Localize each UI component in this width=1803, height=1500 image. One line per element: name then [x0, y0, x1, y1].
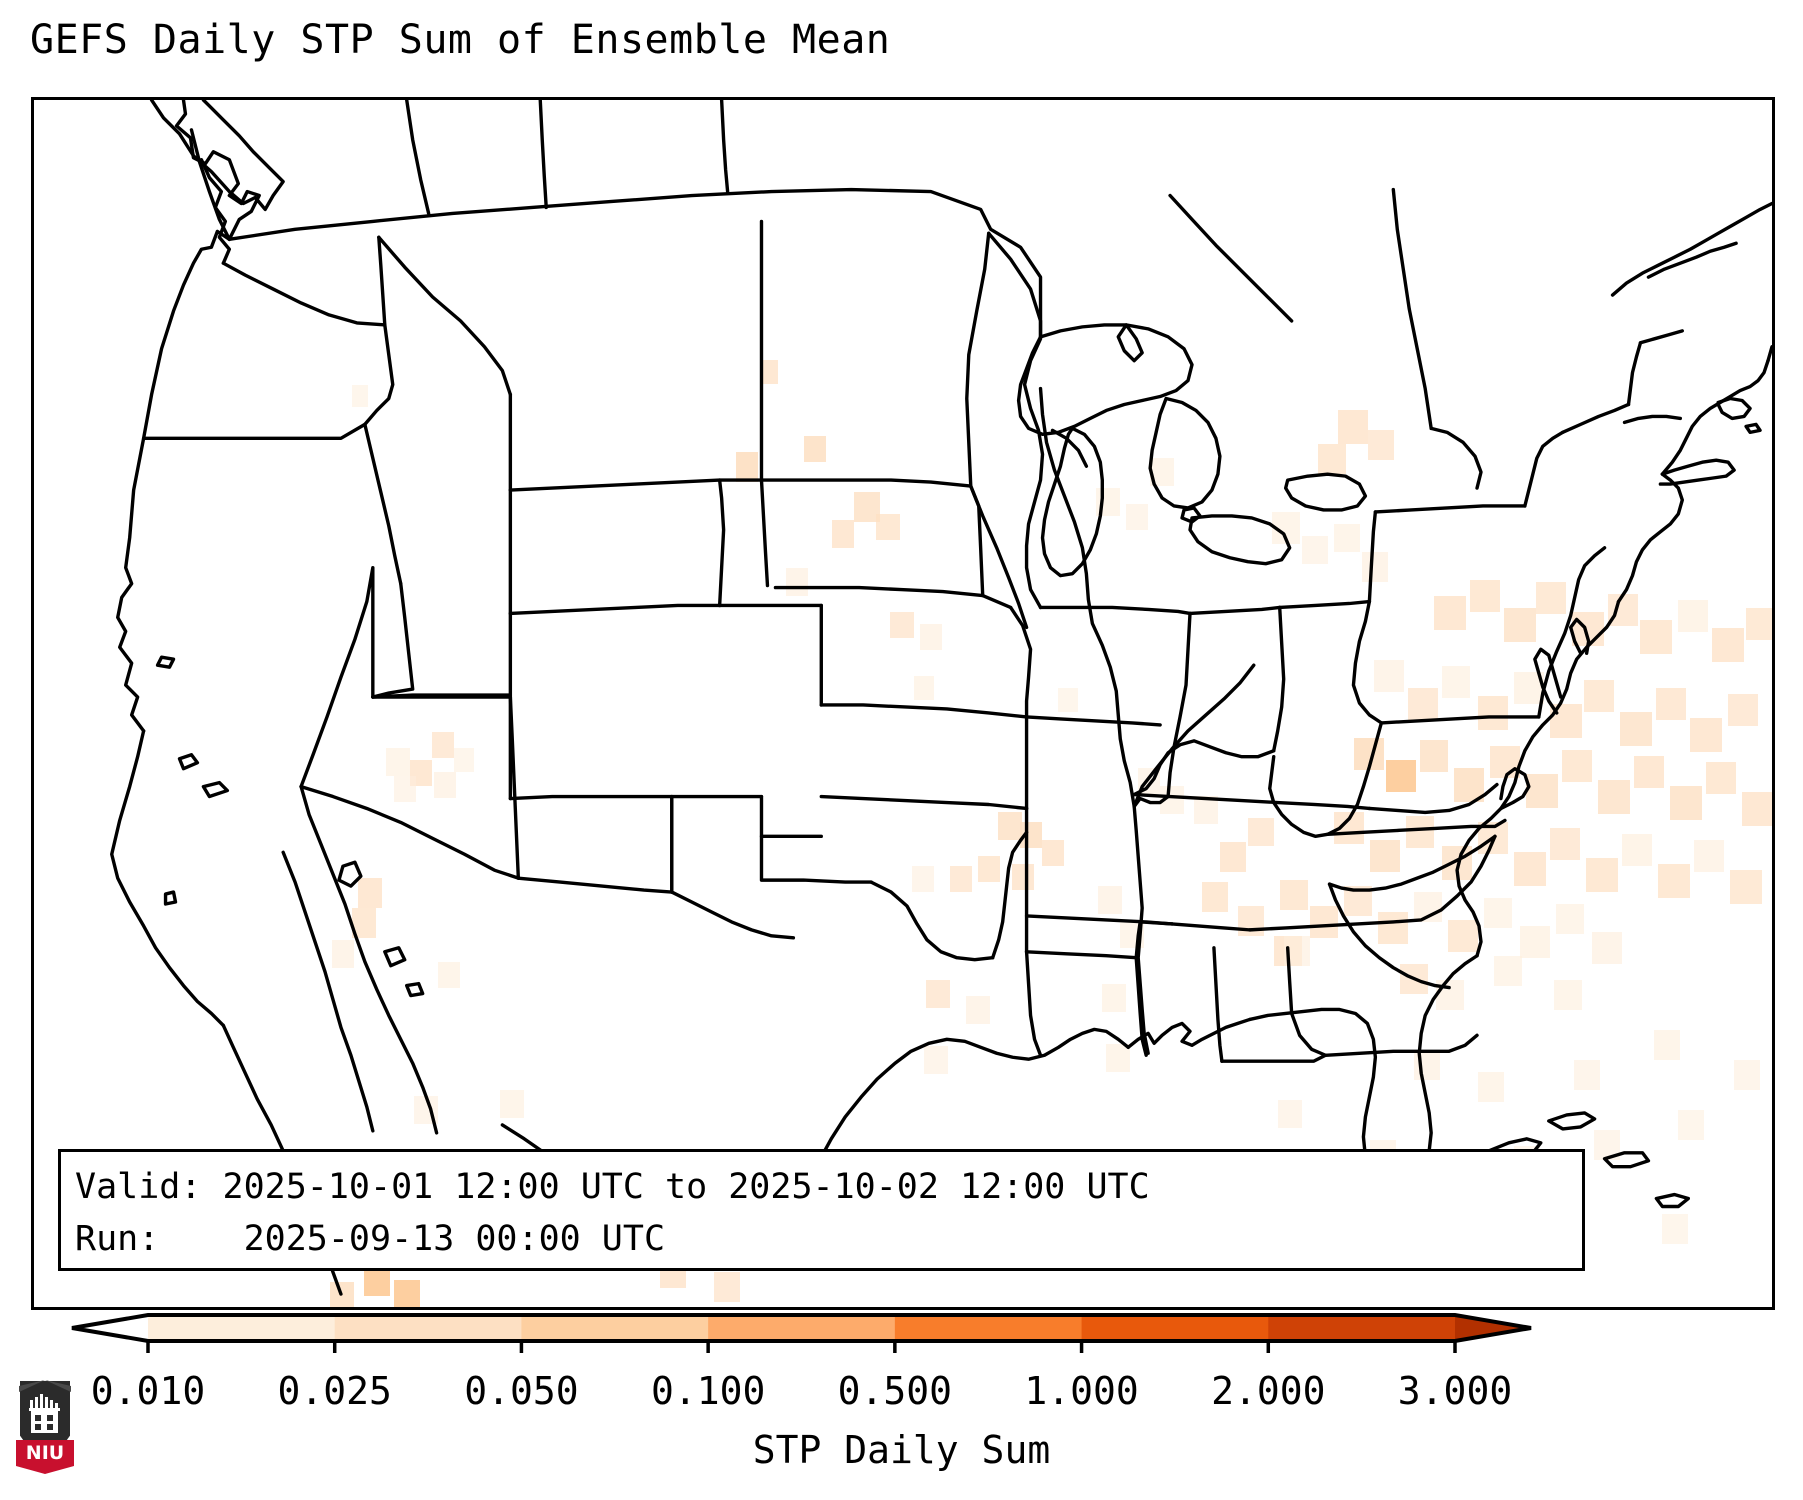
border-id-mt — [379, 237, 511, 394]
border-alberta-sask — [407, 100, 429, 213]
border-nm-tx-2 — [672, 892, 794, 938]
colorbar-tick-label: 0.050 — [464, 1369, 578, 1413]
border-ut-nv — [373, 584, 413, 697]
border-ga-fl — [1326, 1035, 1477, 1055]
border-nd-sd — [761, 480, 970, 486]
border-mt-wy — [510, 480, 761, 490]
border-canada-maine — [1431, 428, 1481, 488]
great-lake-ontario — [1286, 474, 1366, 510]
colorbar-tick-label: 3.000 — [1398, 1369, 1512, 1413]
border-al-fl — [1222, 1055, 1326, 1061]
border-sd-wy — [761, 480, 767, 585]
island-tiburon — [339, 862, 361, 886]
border-ms-al — [1214, 948, 1222, 1061]
border-al-ga — [1288, 948, 1326, 1055]
border-in-mi — [1190, 607, 1280, 613]
border-wa-id — [379, 237, 385, 325]
border-sc-ga — [1330, 884, 1450, 987]
border-us-canada — [229, 190, 1040, 337]
coastline-cape-cod — [1718, 399, 1750, 419]
border-tn-ky-2 — [1369, 785, 1497, 813]
coastline-mid-atlantic — [1619, 474, 1683, 601]
border-wi-il — [1041, 607, 1190, 613]
border-ma-ct-ri — [1625, 416, 1681, 422]
border-pa-ny — [1375, 506, 1524, 512]
border-ok-tx-panhandle — [761, 836, 871, 882]
border-or-id — [365, 325, 393, 425]
border-nd-mn — [967, 233, 989, 486]
border-wa-or — [223, 263, 384, 325]
island-channel-1 — [158, 657, 174, 667]
colorbar-swatches[interactable] — [0, 1313, 1803, 1353]
coastline-delaware-bay — [1571, 619, 1589, 653]
colorbar-tick-labels: 0.0100.0250.0500.1000.5001.0002.0003.000 — [0, 1369, 1803, 1419]
coastlines-group — [112, 100, 1772, 1294]
coastline-california — [112, 731, 224, 1026]
political-borders-group — [144, 100, 1683, 1061]
geography-overlay — [34, 100, 1772, 1307]
lake-st-clair — [1182, 508, 1200, 522]
valid-run-info-box: Valid: 2025-10-01 12:00 UTC to 2025-10-0… — [58, 1149, 1585, 1271]
great-lake-erie — [1190, 516, 1290, 564]
island-bahamas-2 — [1549, 1113, 1595, 1129]
colorbar-tick-label: 0.025 — [278, 1369, 392, 1413]
river-ohio — [1134, 665, 1254, 806]
colorbar-band — [1082, 1315, 1269, 1341]
border-tx-la — [1027, 952, 1041, 1055]
island-baja-2 — [385, 948, 405, 966]
island-nantucket — [1746, 424, 1760, 432]
border-ny-vt-nh — [1563, 404, 1629, 432]
colorbar-band — [335, 1315, 522, 1341]
coastline-pacific-northwest — [118, 100, 260, 731]
border-mi-oh — [1280, 602, 1370, 608]
border-or-ca — [144, 424, 365, 438]
colorbar-band — [708, 1315, 895, 1341]
border-ms-tn — [1172, 924, 1250, 930]
niu-logo[interactable]: NIU — [14, 1378, 76, 1474]
island-bahamas-4 — [1656, 1195, 1688, 1207]
border-in-oh — [1274, 607, 1284, 750]
valid-time-line: Valid: 2025-10-01 12:00 UTC to 2025-10-0… — [75, 1161, 1582, 1213]
border-ky-tn — [1134, 795, 1369, 809]
great-lake-huron — [1150, 399, 1220, 508]
island-guadalupe — [166, 892, 176, 904]
figure-canvas: GEFS Daily STP Sum of Ensemble Mean — [0, 0, 1803, 1500]
border-nh-me — [1640, 331, 1682, 343]
colorbar-tick-label: 0.100 — [651, 1369, 765, 1413]
colorbar-tick-label: 0.500 — [838, 1369, 952, 1413]
border-ontario-quebec — [1170, 196, 1292, 321]
map-panel[interactable] — [31, 97, 1775, 1310]
island-bahamas-3 — [1605, 1153, 1649, 1167]
border-wy-co — [510, 605, 719, 613]
lake-superior-keweenaw — [1118, 325, 1142, 361]
island-channel-3 — [203, 783, 227, 797]
border-oh-pa — [1369, 512, 1375, 602]
border-ar-la — [1027, 952, 1137, 958]
coastline-st-lawrence — [1613, 203, 1772, 295]
border-ia-il — [1027, 717, 1161, 725]
border-id-nv-ut — [365, 424, 401, 583]
colorbar-tick-label: 1.000 — [1024, 1369, 1138, 1413]
great-lake-michigan — [1043, 428, 1103, 575]
colorbar-tick-label: 2.000 — [1211, 1369, 1325, 1413]
border-nv-ca — [301, 568, 373, 787]
border-az-mexico — [301, 787, 518, 879]
border-sask-manitoba — [540, 100, 546, 207]
border-co-nm — [510, 797, 761, 799]
border-quebec-ne — [1393, 190, 1431, 429]
border-wy-ne — [720, 480, 724, 605]
border-tx-ok — [871, 882, 993, 960]
colorbar-tick-label: 0.010 — [91, 1369, 205, 1413]
colorbar-band — [895, 1315, 1082, 1341]
niu-banner-text: NIU — [26, 1442, 64, 1464]
border-ne-ia-mo — [1011, 607, 1031, 716]
colorbar-band — [521, 1315, 708, 1341]
run-time-line: Run: 2025-09-13 00:00 UTC — [75, 1213, 1582, 1265]
page-title: GEFS Daily STP Sum of Ensemble Mean — [30, 18, 890, 62]
border-pa-ny-2 — [1525, 432, 1563, 506]
colorbar-band-group — [72, 1315, 1531, 1341]
colorbar-band — [148, 1315, 335, 1341]
border-oh-wv — [1353, 602, 1381, 723]
border-va-nc — [1328, 820, 1505, 834]
border-il-in — [1168, 613, 1190, 796]
border-ks-ok — [821, 797, 1026, 809]
border-vt-nh — [1628, 343, 1640, 405]
colorbar[interactable] — [0, 1313, 1803, 1353]
baja-inner — [283, 852, 373, 1131]
border-manitoba-ontario — [722, 100, 728, 192]
border-tx-ok-2 — [993, 832, 1027, 957]
island-baja-3 — [407, 984, 423, 996]
river-missouri-lower — [971, 486, 1027, 627]
border-ne-ks — [821, 705, 1026, 717]
colorbar-axis-label: STP Daily Sum — [0, 1428, 1803, 1472]
border-pa-md-wv — [1381, 717, 1538, 723]
coastline-maine — [1768, 347, 1772, 361]
border-wv-va — [1270, 723, 1382, 836]
border-il-ky — [1134, 797, 1168, 807]
island-channel-2 — [179, 755, 197, 769]
border-nm-mexico — [518, 797, 671, 893]
colorbar-band — [1268, 1315, 1455, 1341]
border-co-ok-panhandle — [761, 797, 821, 837]
